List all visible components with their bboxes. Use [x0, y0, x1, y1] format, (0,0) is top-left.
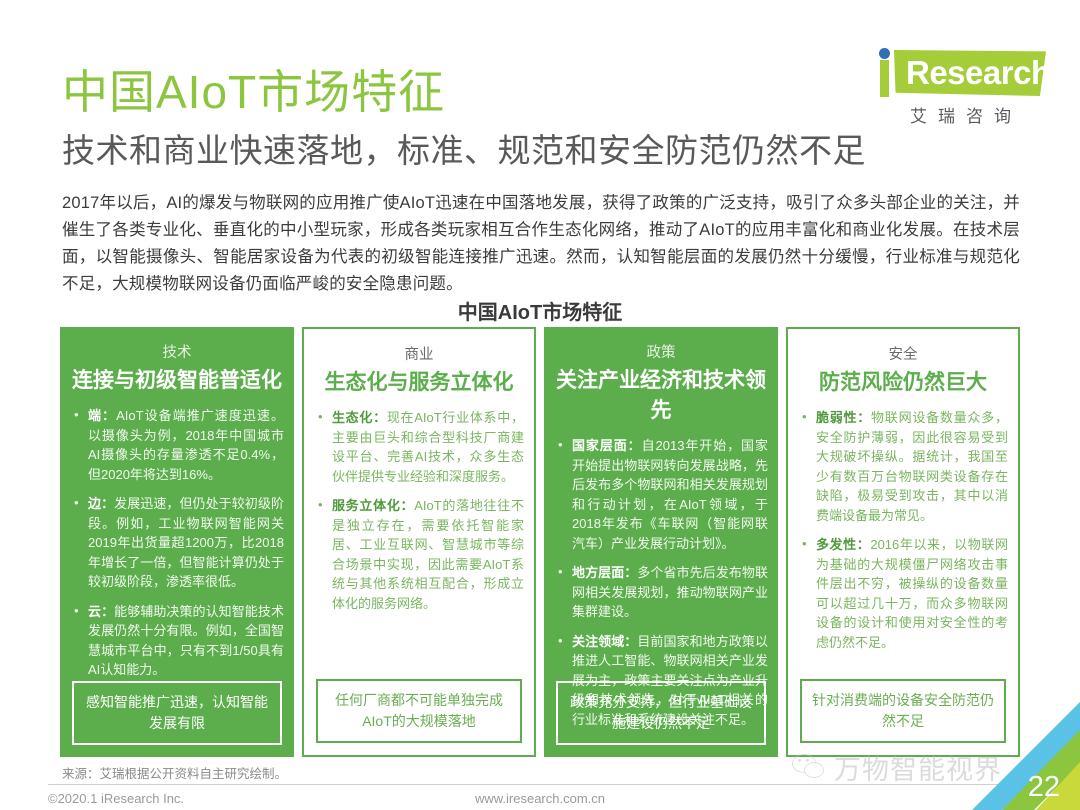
intro-paragraph: 2017年以后，AI的爆发与物联网的应用推广使AIoT迅速在中国落地发展，获得了…: [62, 190, 1020, 298]
column-category: 商业: [314, 343, 524, 364]
bullet-lead: 生态化：: [332, 410, 387, 425]
bullet-lead: 关注领域：: [572, 634, 637, 649]
column-headline: 连接与初级智能普适化: [70, 366, 284, 396]
bullet-item: 服务立体化：AIoT的落地往往不是独立存在，需要依托智能家居、工业互联网、智慧城…: [316, 496, 524, 613]
logo-mark: Research: [858, 44, 1054, 102]
column-category: 安全: [798, 343, 1008, 364]
wechat-icon: [792, 754, 826, 782]
page-subtitle: 技术和商业快速落地，标准、规范和安全防范仍然不足: [62, 124, 866, 172]
column-category: 技术: [70, 341, 284, 362]
bullet-lead: 多发性：: [816, 537, 870, 552]
column-headline: 关注产业经济和技术领先: [554, 366, 768, 426]
bullet-item: 脆弱性：物联网设备数量众多，安全防护薄弱，因此很容易受到大规破坏操纵。据统计，我…: [800, 408, 1008, 525]
column-summary-box: 任何厂商都不可能单独完成AIoT的大规模落地: [316, 679, 522, 743]
page-title: 中国AIoT市场特征: [62, 56, 445, 122]
column-headline: 生态化与服务立体化: [314, 368, 524, 398]
bullet-lead: 地方层面：: [572, 565, 637, 580]
bullet-text: 能够辅助决策的认知智能技术发展仍然十分有限。例如，全国智慧城市平台中，只有不到1…: [88, 604, 284, 678]
feature-column: 技术连接与初级智能普适化端：AIoT设备端推广速度迅速。以摄像头为例，2018年…: [60, 327, 294, 757]
logo-chinese-name: 艾瑞咨询: [880, 102, 1052, 127]
table-title: 中国AIoT市场特征: [0, 296, 1080, 325]
column-summary-box: 政策充分支持，但行业基础设施建设仍然不足: [556, 681, 766, 745]
bullet-text: 发展迅速，但仍处于较初级阶段。例如，工业物联网智能网关2019年出货量超1200…: [88, 496, 284, 589]
bullet-text: 2016年以来，以物联网为基础的大规模僵尸网络攻击事件层出不穷，被操纵的设备数量…: [816, 537, 1008, 650]
bullet-lead: 边：: [88, 496, 114, 511]
bullet-list: 端：AIoT设备端推广速度迅速。以摄像头为例，2018年中国城市AI摄像头的存量…: [72, 406, 284, 680]
bullet-text: 物联网设备数量众多，安全防护薄弱，因此很容易受到大规破坏操纵。据统计，我国至少有…: [816, 410, 1008, 523]
bullet-list: 脆弱性：物联网设备数量众多，安全防护薄弱，因此很容易受到大规破坏操纵。据统计，我…: [800, 408, 1008, 652]
page-number: 22: [1028, 771, 1060, 804]
bullet-lead: 端：: [88, 408, 116, 423]
bullet-lead: 脆弱性：: [816, 410, 871, 425]
corner-decoration: 22: [960, 702, 1080, 810]
bullet-item: 边：发展迅速，但仍处于较初级阶段。例如，工业物联网智能网关2019年出货量超12…: [72, 494, 284, 592]
bullet-lead: 服务立体化：: [332, 498, 414, 513]
logo-wordmark: Research: [906, 52, 1046, 94]
column-summary-box: 感知智能推广迅速，认知智能发展有限: [72, 681, 282, 745]
bullet-text: AIoT的落地往往不是独立存在，需要依托智能家居、工业互联网、智慧城市等综合场景…: [332, 498, 524, 611]
bullet-lead: 国家层面：: [572, 438, 642, 453]
bullet-item: 生态化：现在AIoT行业体系中，主要由巨头和综合型科技厂商建设平台、完善AI技术…: [316, 408, 524, 486]
feature-column: 政策关注产业经济和技术领先国家层面：自2013年开始，国家开始提出物联网转向发展…: [544, 327, 778, 757]
feature-column: 安全防范风险仍然巨大脆弱性：物联网设备数量众多，安全防护薄弱，因此很容易受到大规…: [786, 327, 1020, 757]
bullet-item: 国家层面：自2013年开始，国家开始提出物联网转向发展战略，先后发布多个物联网和…: [556, 436, 768, 553]
bullet-item: 云：能够辅助决策的认知智能技术发展仍然十分有限。例如，全国智慧城市平台中，只有不…: [72, 602, 284, 680]
bullet-item: 端：AIoT设备端推广速度迅速。以摄像头为例，2018年中国城市AI摄像头的存量…: [72, 406, 284, 484]
logo-i-stem: [880, 60, 889, 97]
feature-column: 商业生态化与服务立体化生态化：现在AIoT行业体系中，主要由巨头和综合型科技厂商…: [302, 327, 536, 757]
bullet-text: 自2013年开始，国家开始提出物联网转向发展战略，先后发布多个物联网和相关发展规…: [572, 438, 768, 551]
bullet-lead: 云：: [88, 604, 114, 619]
logo-i-dot-icon: [879, 48, 890, 59]
bullet-text: AIoT设备端推广速度迅速。以摄像头为例，2018年中国城市AI摄像头的存量渗透…: [88, 408, 284, 482]
bullet-item: 多发性：2016年以来，以物联网为基础的大规模僵尸网络攻击事件层出不穷，被操纵的…: [800, 535, 1008, 652]
feature-columns: 技术连接与初级智能普适化端：AIoT设备端推广速度迅速。以摄像头为例，2018年…: [60, 327, 1020, 757]
slide-page: Research 艾瑞咨询 中国AIoT市场特征 技术和商业快速落地，标准、规范…: [0, 0, 1080, 810]
column-headline: 防范风险仍然巨大: [798, 368, 1008, 398]
bullet-item: 地方层面：多个省市先后发布物联网相关发展规划，推动物联网产业集群建设。: [556, 563, 768, 622]
website-url: www.iresearch.com.cn: [0, 791, 1080, 806]
iresearch-logo: Research 艾瑞咨询: [858, 44, 1058, 130]
bullet-list: 生态化：现在AIoT行业体系中，主要由巨头和综合型科技厂商建设平台、完善AI技术…: [316, 408, 524, 613]
column-category: 政策: [554, 341, 768, 362]
source-note: 来源：艾瑞根据公开资料自主研究绘制。: [62, 763, 287, 782]
